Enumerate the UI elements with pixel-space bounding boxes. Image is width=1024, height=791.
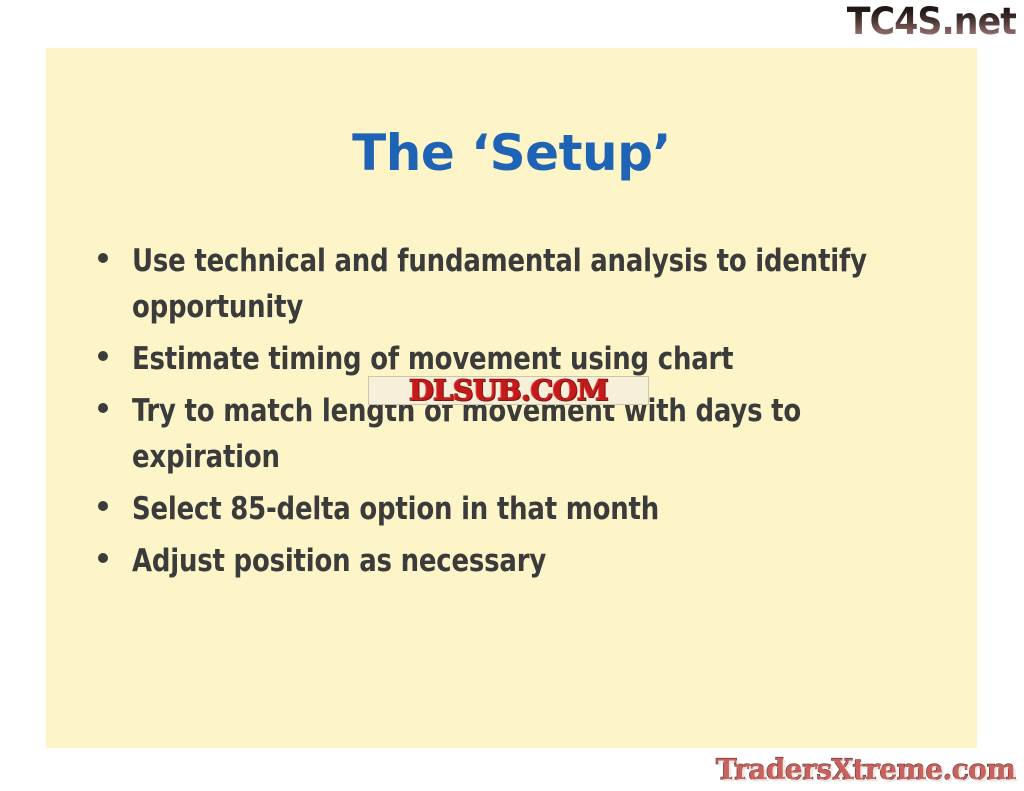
bullet-dot-icon (98, 238, 132, 263)
list-item: Adjust position as necessary (98, 538, 938, 584)
list-item-label: Use technical and fundamental analysis t… (132, 238, 882, 330)
list-item-label: Adjust position as necessary (132, 538, 882, 584)
bullet-dot-icon (98, 486, 132, 511)
list-item: Use technical and fundamental analysis t… (98, 238, 938, 330)
tradersxtreme-brand: TradersXtreme.com (716, 753, 1016, 787)
page-title: The ‘Setup’ (46, 124, 977, 182)
list-item-label: Select 85-delta option in that month (132, 486, 882, 532)
bullet-dot-icon (98, 336, 132, 361)
bullet-dot-icon (98, 538, 132, 563)
bullet-list: Use technical and fundamental analysis t… (98, 238, 938, 590)
list-item: Select 85-delta option in that month (98, 486, 938, 532)
tc4s-logo: TC4S.net (847, 2, 1016, 42)
dlsub-watermark-label: DLSUB.COM (409, 377, 608, 405)
bullet-dot-icon (98, 388, 132, 413)
dlsub-watermark: DLSUB.COM (368, 376, 649, 405)
